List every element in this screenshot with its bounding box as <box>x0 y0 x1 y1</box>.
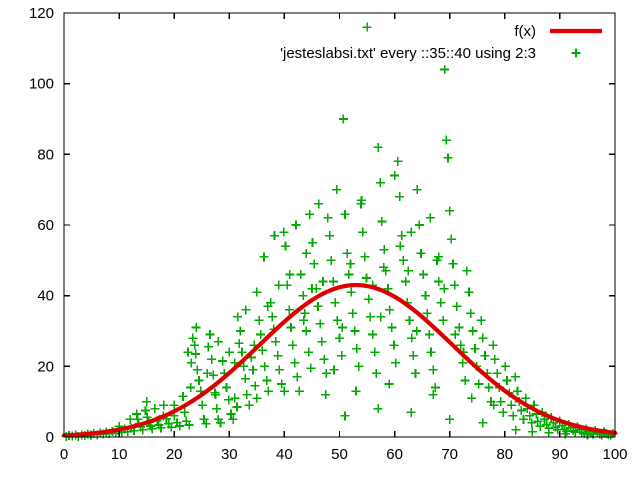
legend-label: f(x) <box>514 23 536 40</box>
x-tick-label: 60 <box>386 446 403 463</box>
y-tick-label: 40 <box>37 288 54 305</box>
x-tick-label: 70 <box>441 446 458 463</box>
y-tick-label: 120 <box>29 5 54 22</box>
gnuplot-chart: 0102030405060708090100020406080100120 f(… <box>0 0 640 480</box>
x-tick-label: 0 <box>60 446 68 463</box>
x-tick-label: 50 <box>331 446 348 463</box>
plot-canvas: 0102030405060708090100020406080100120 f(… <box>0 0 640 480</box>
y-tick-label: 60 <box>37 217 54 234</box>
x-tick-label: 30 <box>221 446 238 463</box>
chart-background <box>0 0 640 480</box>
x-tick-label: 20 <box>166 446 183 463</box>
y-tick-label: 80 <box>37 146 54 163</box>
y-tick-label: 100 <box>29 76 54 93</box>
x-tick-label: 100 <box>602 446 627 463</box>
x-tick-label: 10 <box>111 446 128 463</box>
y-tick-label: 0 <box>46 429 54 446</box>
legend-label: 'jesteslabsi.txt' every ::35::40 using 2… <box>280 45 536 62</box>
x-tick-label: 80 <box>496 446 513 463</box>
y-tick-label: 20 <box>37 358 54 375</box>
x-tick-label: 40 <box>276 446 293 463</box>
x-tick-label: 90 <box>552 446 569 463</box>
